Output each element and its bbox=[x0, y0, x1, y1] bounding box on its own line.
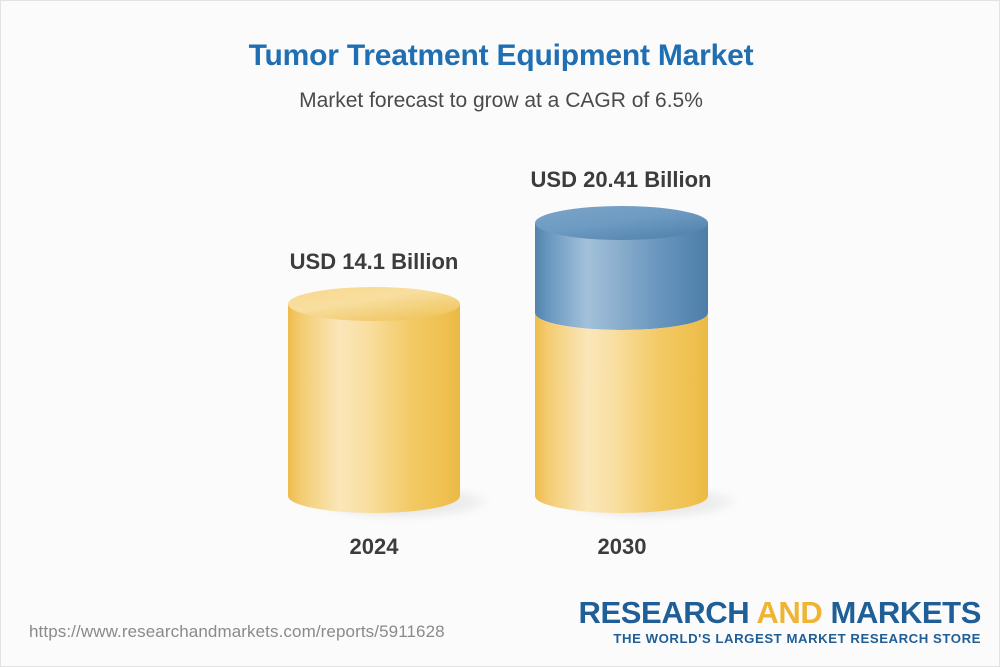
value-label-2030: USD 20.41 Billion bbox=[521, 167, 721, 193]
research-and-markets-logo[interactable]: RESEARCH AND MARKETS THE WORLD'S LARGEST… bbox=[579, 597, 982, 646]
category-label-2024: 2024 bbox=[274, 534, 474, 560]
category-label-2030: 2030 bbox=[522, 534, 722, 560]
logo-word-and: AND bbox=[756, 595, 822, 630]
cylinder-2024 bbox=[288, 287, 460, 513]
chart-canvas: Tumor Treatment Equipment Market Market … bbox=[0, 0, 1000, 667]
cylinder-2030 bbox=[535, 206, 708, 513]
logo-word-markets: MARKETS bbox=[822, 595, 981, 630]
logo-word-research: RESEARCH bbox=[579, 595, 757, 630]
logo-wordmark: RESEARCH AND MARKETS bbox=[579, 597, 982, 629]
plot-area: USD 14.1 Billion bbox=[1, 1, 1000, 601]
logo-tagline: THE WORLD'S LARGEST MARKET RESEARCH STOR… bbox=[579, 631, 982, 646]
bar-2030 bbox=[535, 206, 708, 513]
bar-2024 bbox=[288, 287, 460, 513]
value-label-2024: USD 14.1 Billion bbox=[274, 249, 474, 275]
source-url[interactable]: https://www.researchandmarkets.com/repor… bbox=[29, 622, 445, 642]
